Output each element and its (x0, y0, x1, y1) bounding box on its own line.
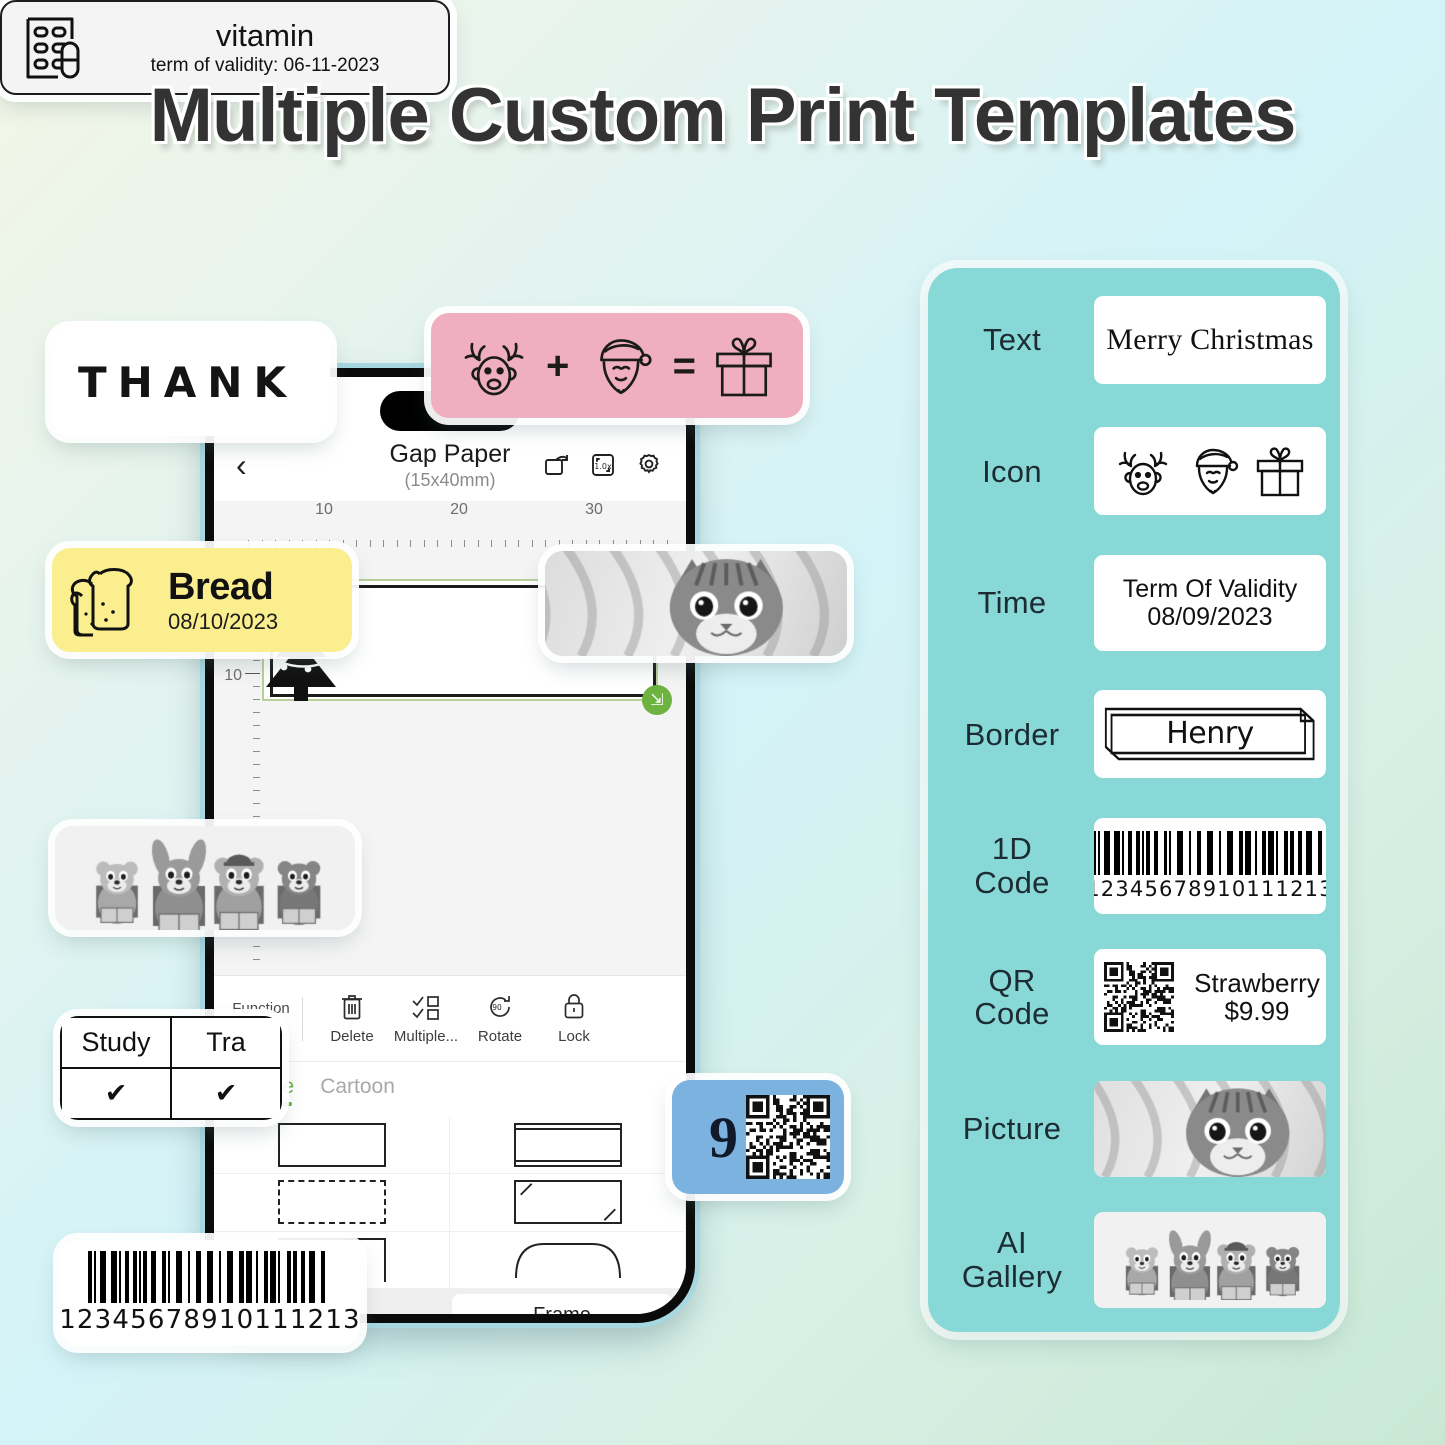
resize-handle-icon[interactable]: ⇲ (642, 685, 672, 715)
panel-card-border[interactable]: Henry (1094, 690, 1326, 778)
pill-sheet-icon (24, 15, 86, 81)
barcode-image (88, 1251, 332, 1303)
bread-title: Bread (168, 567, 278, 608)
sticker-bread: Bread 08/10/2023 (52, 548, 352, 652)
rotate-90-icon: 90 (463, 992, 537, 1022)
bread-date: 08/10/2023 (168, 610, 278, 634)
panel-card-picture[interactable] (1094, 1081, 1326, 1177)
panel-row-icon: Icon (938, 415, 1326, 527)
delete-label: Delete (315, 1028, 389, 1045)
equals-sign: = (673, 350, 696, 382)
panel-row-border: Border Henry (938, 678, 1326, 790)
cartoon-animals (55, 826, 355, 930)
panel-label-text: Text (938, 323, 1086, 356)
scale-1x-icon[interactable]: 1.0x (588, 450, 618, 480)
frame-option-double-line[interactable] (450, 1117, 686, 1174)
reindeer-icon (1111, 439, 1175, 503)
table-cell-study: Study (61, 1017, 171, 1068)
ruler-h-label-30: 30 (585, 501, 603, 519)
panel-label-ai-gallery: AI Gallery (938, 1226, 1086, 1293)
multiple-label: Multiple... (389, 1028, 463, 1045)
blue-qr-partial-text: 9 (709, 1104, 738, 1171)
rotate-label: Rotate (463, 1028, 537, 1045)
trash-icon (315, 992, 389, 1022)
lock-button[interactable]: Lock (537, 992, 611, 1045)
delete-button[interactable]: Delete (315, 992, 389, 1045)
tab-frame[interactable]: Frame (452, 1294, 672, 1314)
page-title: Multiple Custom Print Templates (0, 72, 1445, 159)
panel-label-picture: Picture (938, 1112, 1086, 1145)
panel-row-picture: Picture (938, 1073, 1326, 1185)
sticker-blue-qr: 9 (672, 1080, 844, 1194)
nav-icon-group: 1.0x (542, 450, 664, 480)
gift-icon (1251, 439, 1309, 503)
time-sample-line1: Term Of Validity (1123, 575, 1298, 603)
panel-row-ai-gallery: AI Gallery (938, 1204, 1326, 1316)
table-cell-check-2: ✔ (171, 1068, 281, 1119)
plus-sign: + (546, 350, 569, 382)
time-sample-line2: 08/09/2023 (1123, 603, 1298, 631)
multi-select-icon (389, 992, 463, 1022)
panel-card-text[interactable]: Merry Christmas (1094, 296, 1326, 384)
panel-card-icon[interactable] (1094, 427, 1326, 515)
multiple-select-button[interactable]: Multiple... (389, 992, 463, 1045)
table-cell-train: Tra (171, 1017, 281, 1068)
sticker-christmas-equation: + = (431, 313, 803, 418)
style-tabs: Simple Cartoon (214, 1061, 686, 1117)
reindeer-icon (455, 327, 533, 405)
panel-label-icon: Icon (938, 455, 1086, 488)
study-table: Study Tra ✔ ✔ (60, 1016, 282, 1120)
barcode-digits: 12345678910111213 (59, 1305, 361, 1335)
frame-option-cut-corners[interactable] (450, 1174, 686, 1231)
toolbar-divider (302, 997, 303, 1041)
table-cell-check-1: ✔ (61, 1068, 171, 1119)
ruler-v-label-10: 10 (224, 667, 242, 685)
panel-label-1d-code: 1D Code (938, 832, 1086, 899)
cartoon-animals (1094, 1212, 1326, 1308)
template-types-panel: Text Merry Christmas Icon (928, 268, 1340, 1332)
border-sample-value: Henry (1103, 716, 1316, 751)
frame-option-rounded-arc[interactable] (450, 1232, 686, 1289)
panel-label-border: Border (938, 718, 1086, 751)
panel-row-qr-code: QR Code Strawberry $9.99 (938, 941, 1326, 1053)
svg-text:1.0x: 1.0x (594, 462, 612, 471)
table-row: ✔ ✔ (61, 1068, 281, 1119)
qr-code-icon (1104, 962, 1174, 1032)
frame-option-plain[interactable] (214, 1117, 450, 1174)
barcode-digits: 12345678910111213 (1094, 877, 1326, 901)
santa-icon (582, 327, 660, 405)
frame-option-dashed[interactable] (214, 1174, 450, 1231)
tab-cartoon[interactable]: Cartoon (320, 1075, 395, 1104)
panel-row-text: Text Merry Christmas (938, 284, 1326, 396)
lock-label: Lock (537, 1028, 611, 1045)
sticker-thank: THANK (52, 328, 330, 436)
cat-photo (1094, 1081, 1326, 1177)
function-toolbar: Function Area Delete (214, 975, 686, 1061)
svg-text:90: 90 (492, 1003, 502, 1012)
vitamin-title: vitamin (104, 19, 426, 54)
qr-sample-line2: $9.99 (1188, 997, 1326, 1026)
rotate-button[interactable]: 90 Rotate (463, 992, 537, 1045)
text-sample-value: Merry Christmas (1106, 323, 1313, 357)
barcode-image (1094, 831, 1326, 875)
panel-card-time[interactable]: Term Of Validity 08/09/2023 (1094, 555, 1326, 651)
thank-label-text: THANK (78, 358, 297, 407)
cat-photo (545, 551, 847, 656)
table-row: Study Tra (61, 1017, 281, 1068)
ruler-h-label-10: 10 (315, 501, 333, 519)
ruler-h-label-20: 20 (450, 501, 468, 519)
panel-card-qr-code[interactable]: Strawberry $9.99 (1094, 949, 1326, 1045)
panel-card-ai-gallery[interactable] (1094, 1212, 1326, 1308)
gear-icon[interactable] (634, 450, 664, 480)
sticker-cat-photo (545, 551, 847, 656)
chevron-left-icon[interactable]: ‹ (236, 449, 247, 481)
app-nav-bar: ‹ Gap Paper (15x40mm) 1.0x (214, 429, 686, 501)
panel-label-qr-code: QR Code (938, 964, 1086, 1031)
qr-code-icon (746, 1095, 830, 1179)
sticker-cartoon-animals (55, 826, 355, 930)
qr-sample-line1: Strawberry (1188, 969, 1326, 998)
panel-row-time: Time Term Of Validity 08/09/2023 (938, 547, 1326, 659)
lock-icon (537, 992, 611, 1022)
santa-icon (1181, 439, 1245, 503)
rotate-paper-icon[interactable] (542, 450, 572, 480)
panel-label-time: Time (938, 586, 1086, 619)
sticker-barcode: 12345678910111213 (60, 1240, 360, 1346)
panel-row-1d-code: 1D Code 12345678910111213 (938, 810, 1326, 922)
gift-icon (709, 327, 779, 405)
panel-card-1d-code[interactable]: 12345678910111213 (1094, 818, 1326, 914)
sticker-study-table: Study Tra ✔ ✔ (60, 1016, 282, 1120)
bread-slices-icon (70, 562, 156, 638)
